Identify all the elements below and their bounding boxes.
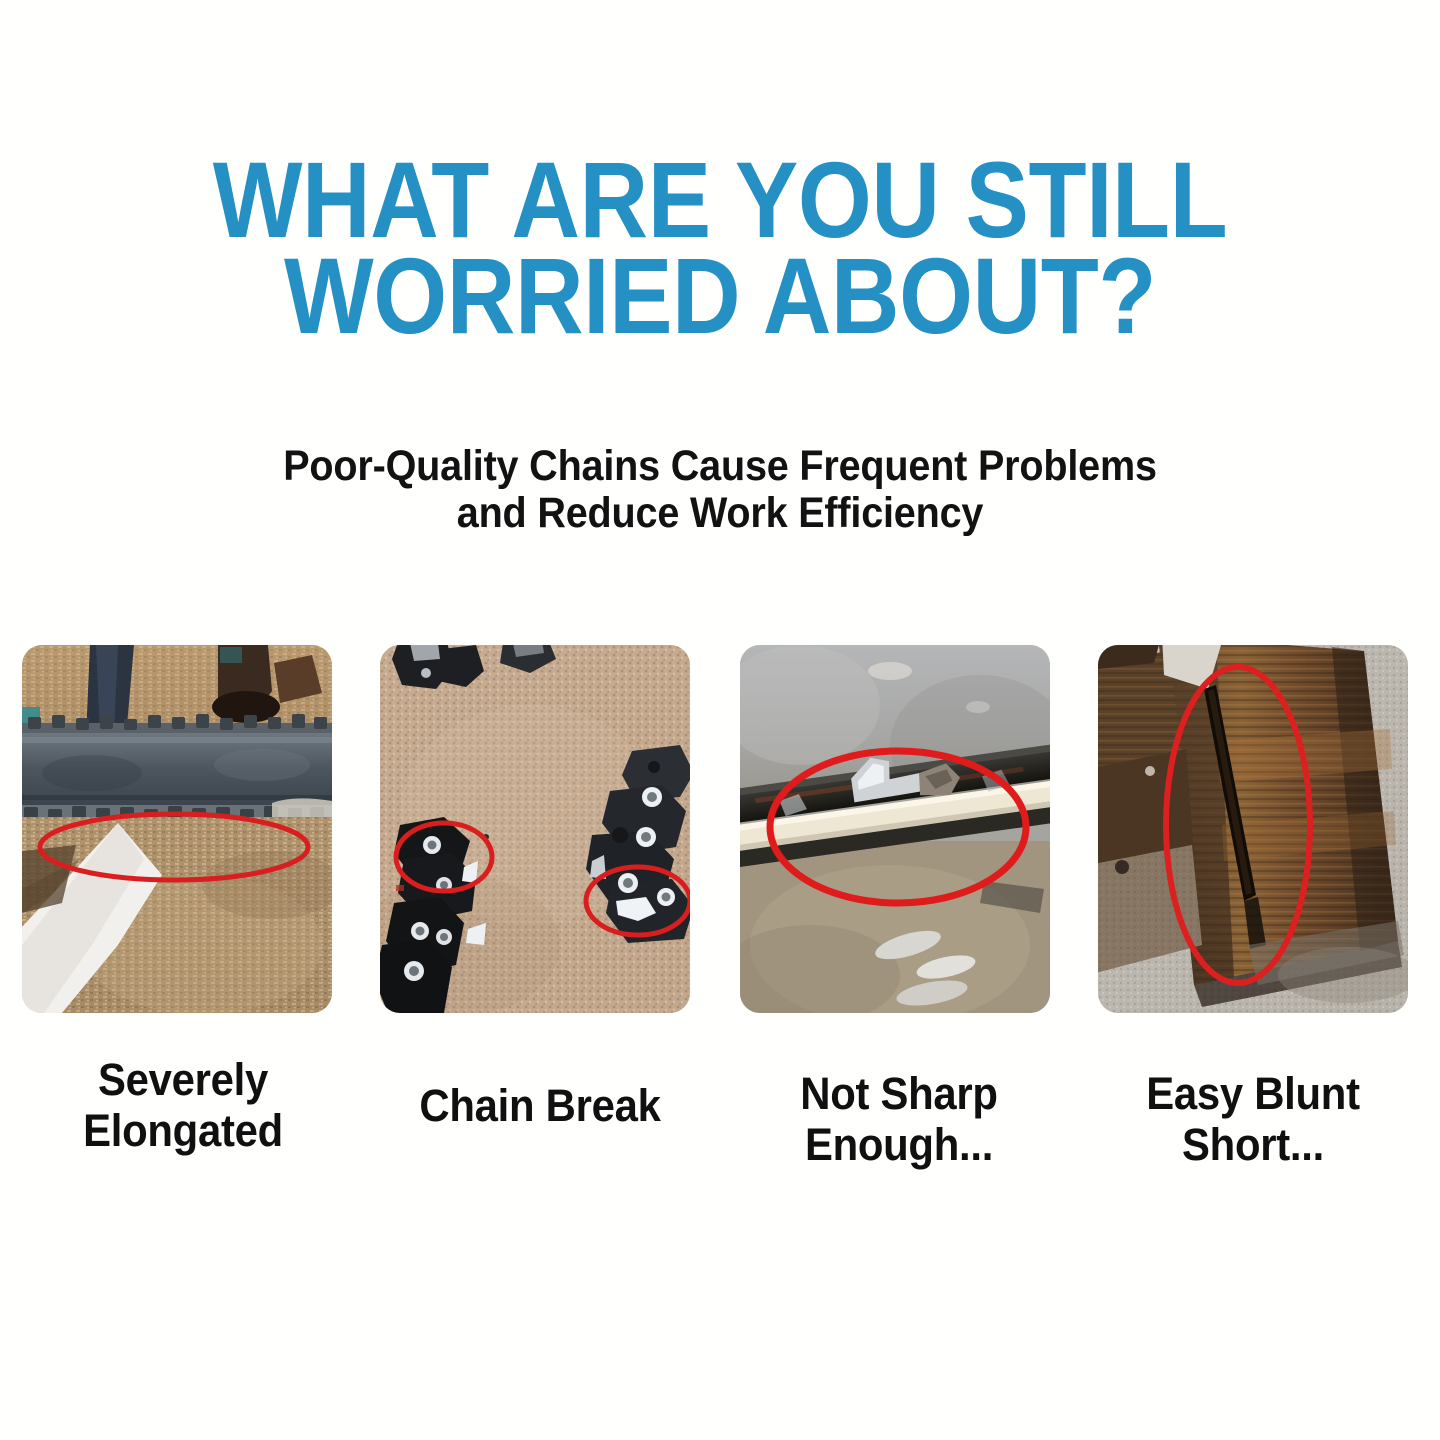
caption-easy-blunt-short: Easy Blunt Short... xyxy=(1100,1068,1407,1170)
caption-severely-elongated: Severely Elongated xyxy=(30,1054,337,1156)
chainsaw-bar-elongated-chain-photo xyxy=(22,645,332,1013)
problem-tile-chain-break xyxy=(380,645,690,1013)
problem-tile-not-sharp-enough xyxy=(740,645,1050,1013)
page-headline: WHAT ARE YOU STILL WORRIED ABOUT? xyxy=(86,152,1353,344)
dull-cutter-tooth-photo xyxy=(740,645,1050,1013)
caption-chain-break: Chain Break xyxy=(387,1080,694,1131)
shallow-cut-log-photo xyxy=(1098,645,1408,1013)
problem-tile-easy-blunt-short xyxy=(1098,645,1408,1013)
problem-tile-severely-elongated xyxy=(22,645,332,1013)
page-subtitle: Poor-Quality Chains Cause Frequent Probl… xyxy=(58,443,1383,537)
problem-photo-row xyxy=(22,645,1418,1013)
broken-chain-links-photo xyxy=(380,645,690,1013)
problem-caption-row: Severely Elongated Chain Break Not Sharp… xyxy=(22,1052,1418,1182)
caption-not-sharp-enough: Not Sharp Enough... xyxy=(746,1068,1053,1170)
